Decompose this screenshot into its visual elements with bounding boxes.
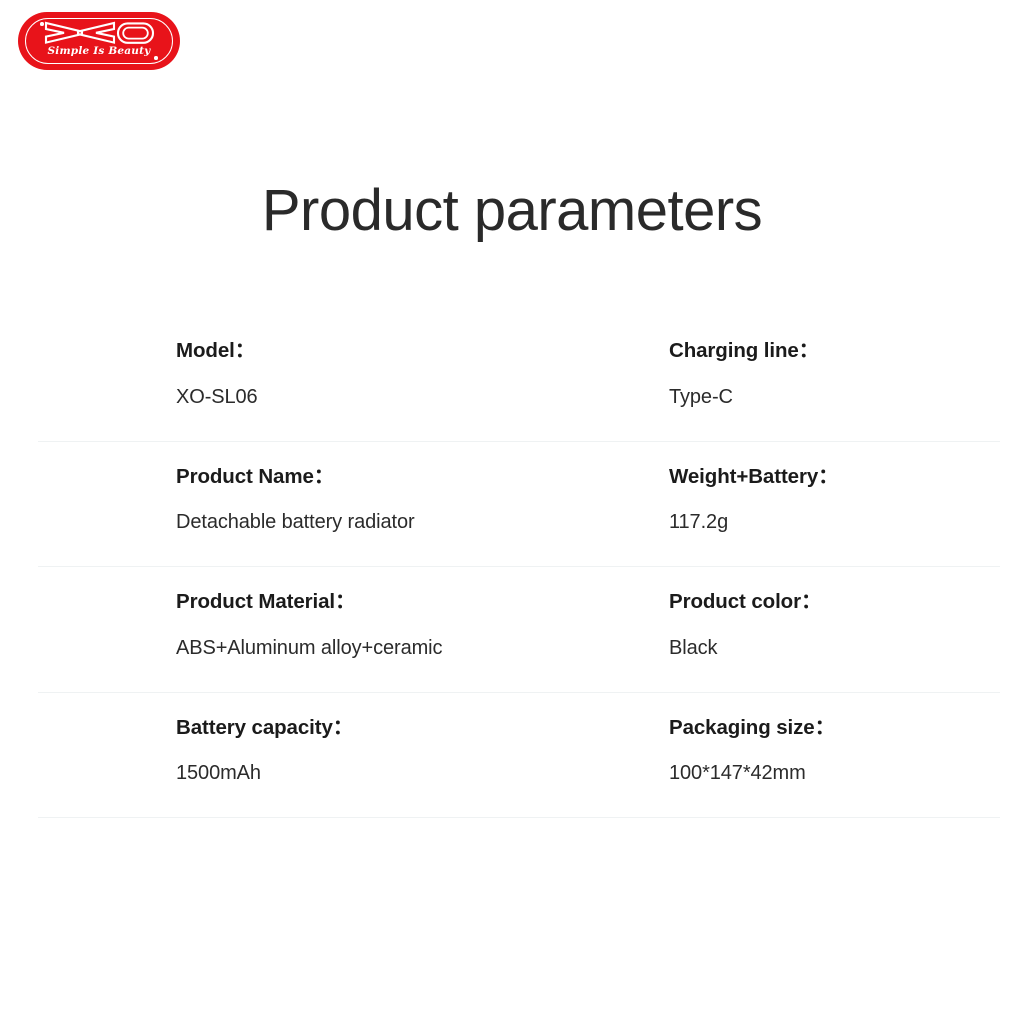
spec-label: Battery capacity： xyxy=(176,716,534,741)
spec-value: XO-SL06 xyxy=(176,385,534,409)
spec-cell-battery-capacity: Battery capacity： 1500mAh xyxy=(38,716,534,786)
spec-value: 1500mAh xyxy=(176,761,534,785)
spec-cell-packaging-size: Packaging size： 100*147*42mm xyxy=(534,716,1000,786)
spec-label: Packaging size： xyxy=(669,716,1000,741)
spec-value: Detachable battery radiator xyxy=(176,510,534,534)
spec-label: Weight+Battery： xyxy=(669,465,1000,490)
spec-label: Product color： xyxy=(669,590,1000,615)
xo-monogram-icon xyxy=(42,21,156,47)
spec-cell-product-name: Product Name： Detachable battery radiato… xyxy=(38,465,534,535)
spec-cell-charging-line: Charging line： Type-C xyxy=(534,339,1000,409)
spec-label: Product Material： xyxy=(176,590,534,615)
page-title: Product parameters xyxy=(0,178,1024,245)
spec-value: 100*147*42mm xyxy=(669,761,1000,785)
spec-cell-model: Model： XO-SL06 xyxy=(38,339,534,409)
brand-logo: Simple Is Beauty xyxy=(18,12,180,70)
table-row: Product Name： Detachable battery radiato… xyxy=(38,442,1000,568)
table-row: Battery capacity： 1500mAh Packaging size… xyxy=(38,693,1000,819)
spec-label: Charging line： xyxy=(669,339,1000,364)
spec-cell-product-material: Product Material： ABS+Aluminum alloy+cer… xyxy=(38,590,534,660)
brand-tagline: Simple Is Beauty xyxy=(18,45,180,57)
table-row: Model： XO-SL06 Charging line： Type-C xyxy=(38,316,1000,442)
spec-value: 117.2g xyxy=(669,510,1000,534)
spec-cell-product-color: Product color： Black xyxy=(534,590,1000,660)
spec-value: Black xyxy=(669,636,1000,660)
spec-value: Type-C xyxy=(669,385,1000,409)
spec-cell-weight-battery: Weight+Battery： 117.2g xyxy=(534,465,1000,535)
spec-label: Model： xyxy=(176,339,534,364)
product-parameters-table: Model： XO-SL06 Charging line： Type-C Pro… xyxy=(38,316,1000,818)
spec-value: ABS+Aluminum alloy+ceramic xyxy=(176,636,534,660)
table-row: Product Material： ABS+Aluminum alloy+cer… xyxy=(38,567,1000,693)
spec-label: Product Name： xyxy=(176,465,534,490)
